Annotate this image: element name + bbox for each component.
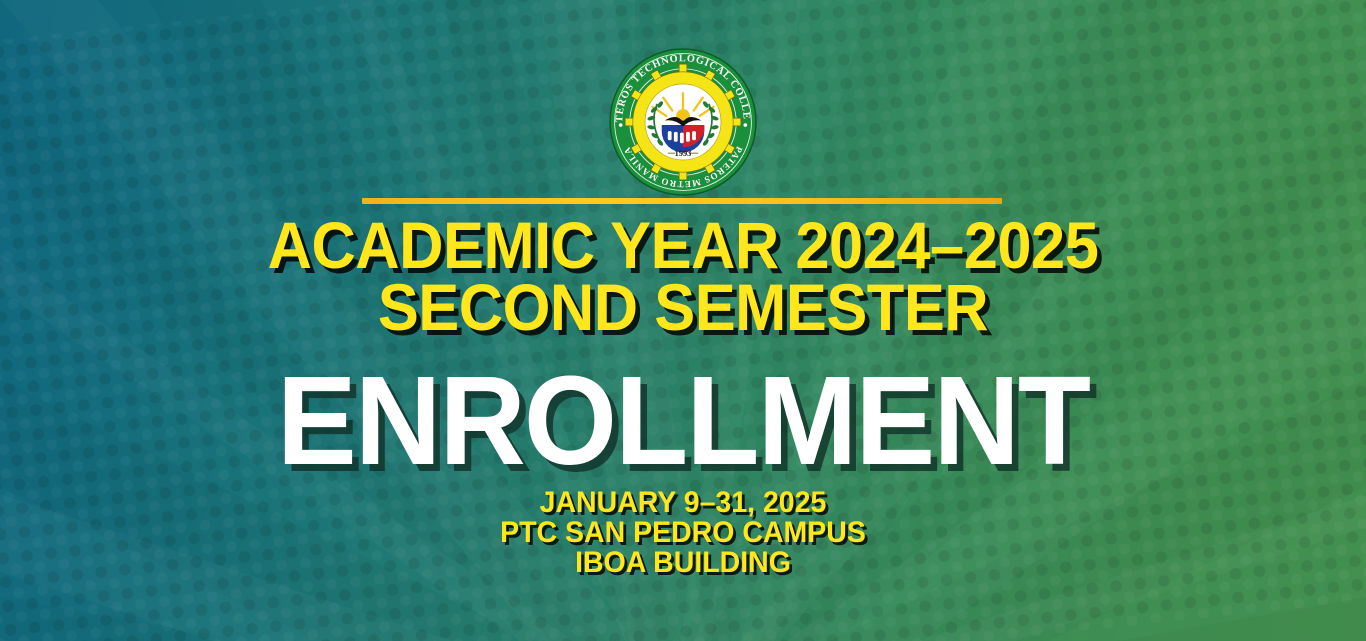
headline: ACADEMIC YEAR 2024–2025 SECOND SEMESTER [48,214,1318,338]
event-campus: PTC SAN PEDRO CAMPUS [34,518,1332,548]
headline-line-2: SECOND SEMESTER [48,276,1318,338]
gold-divider [362,198,1002,204]
event-dates: JANUARY 9–31, 2025 [34,488,1332,518]
main-title-enrollment: ENROLLMENT [34,358,1332,484]
pateros-technological-college-seal-icon: PATEROS TECHNOLOGICAL COLLEGE PATEROS ME… [607,46,759,198]
event-venue: IBOA BUILDING [34,548,1332,578]
svg-text:1993: 1993 [675,149,692,158]
event-details: JANUARY 9–31, 2025 PTC SAN PEDRO CAMPUS … [34,488,1332,578]
enrollment-banner: PATEROS TECHNOLOGICAL COLLEGE PATEROS ME… [0,0,1366,641]
college-seal-container: PATEROS TECHNOLOGICAL COLLEGE PATEROS ME… [0,46,1366,198]
